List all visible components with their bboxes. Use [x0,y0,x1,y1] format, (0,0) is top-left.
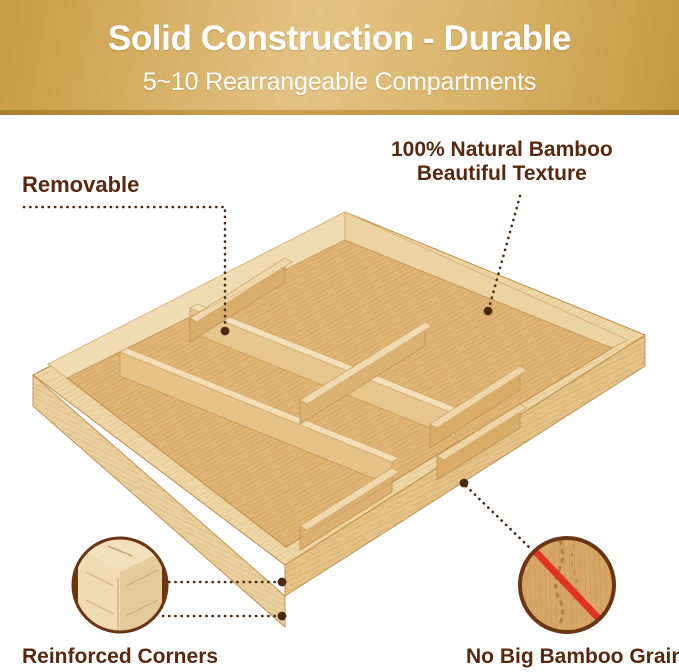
callout-removable: Removable [22,173,139,198]
leader-dot-bamboo [484,307,493,316]
no-big-grains-detail-circle [520,538,614,632]
reinforced-corner-detail-circle [73,534,167,648]
product-illustration [0,0,679,672]
callout-natural-bamboo-line2: Beautiful Texture [391,162,613,186]
callout-no-big-bamboo-grains: No Big Bamboo Grains [466,645,679,669]
leader-no-big-grains [460,479,531,549]
leader-dot-removable [221,327,230,336]
callout-natural-bamboo: 100% Natural Bamboo Beautiful Texture [391,138,613,185]
callout-reinforced-corners: Reinforced Corners [22,645,218,669]
leader-dot-corner-top [278,578,287,587]
leader-dot-grains [460,479,469,488]
leader-dot-corner-bottom [278,612,287,621]
callout-natural-bamboo-line1: 100% Natural Bamboo [391,138,613,162]
